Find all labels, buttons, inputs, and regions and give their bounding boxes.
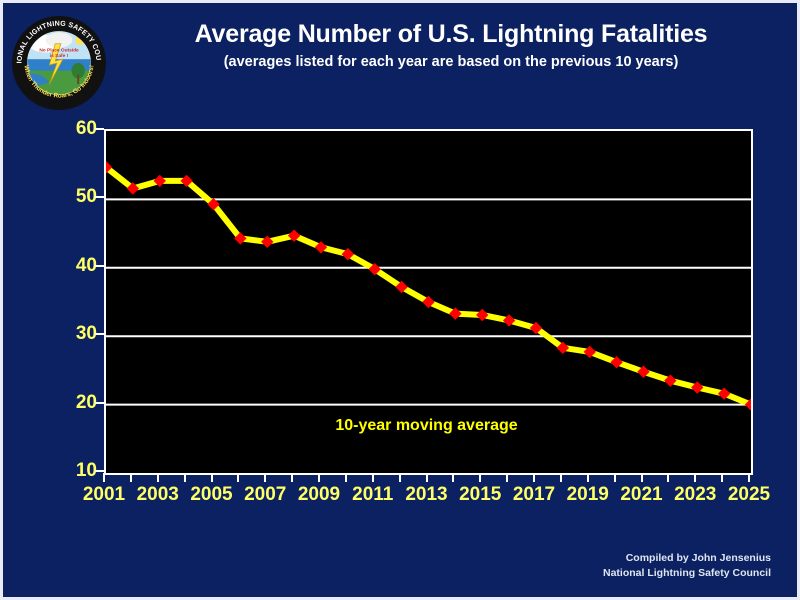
seal-icon: NATIONAL LIGHTNING SAFETY COUNCIL When T…: [11, 15, 107, 111]
y-axis-tick-label: 50: [51, 186, 97, 208]
x-axis-tick-label: 2001: [83, 484, 125, 506]
x-axis-tick-label: 2013: [405, 484, 447, 506]
x-axis-tick-label: 2019: [567, 484, 609, 506]
x-axis-tick-mark: [372, 473, 374, 482]
x-axis-tick-mark: [452, 473, 454, 482]
x-axis-tick-mark: [237, 473, 239, 482]
x-axis-tick-mark: [721, 473, 723, 482]
data-point-marker: [503, 314, 515, 326]
x-axis-tick-mark: [667, 473, 669, 482]
y-axis-tick-mark: [95, 265, 104, 267]
data-point-marker: [154, 175, 166, 187]
x-axis-tick-mark: [157, 473, 159, 482]
x-axis-ticks: [104, 473, 749, 482]
footer-credit: Compiled by John Jensenius National Ligh…: [603, 551, 771, 581]
y-axis-tick-mark: [95, 196, 104, 198]
x-axis-tick-label: 2017: [513, 484, 555, 506]
y-axis-tick-label: 60: [51, 118, 97, 140]
line-chart-svg: [106, 131, 751, 473]
data-point-marker: [691, 381, 703, 393]
x-axis-tick-mark: [426, 473, 428, 482]
y-axis-tick-mark: [95, 402, 104, 404]
page-subtitle: (averages listed for each year are based…: [113, 55, 789, 71]
x-axis-tick-mark: [184, 473, 186, 482]
slide-canvas: NATIONAL LIGHTNING SAFETY COUNCIL When T…: [0, 0, 800, 600]
x-axis-tick-label: 2011: [352, 484, 393, 506]
chart-plot-area: [104, 129, 753, 475]
data-point-marker: [261, 236, 273, 248]
x-axis-tick-label: 2025: [728, 484, 770, 506]
seal-inner-text-line2: is Safe !: [50, 53, 69, 59]
x-axis-tick-mark: [291, 473, 293, 482]
x-axis-tick-mark: [506, 473, 508, 482]
y-axis-tick-label: 20: [51, 392, 97, 414]
x-axis-tick-label: 2021: [620, 484, 662, 506]
y-axis-ticks: [95, 129, 104, 471]
page-title: Average Number of U.S. Lightning Fatalit…: [113, 21, 789, 49]
data-point-marker: [476, 309, 488, 321]
x-axis-tick-label: 2003: [137, 484, 179, 506]
y-axis-tick-label: 40: [51, 255, 97, 277]
x-axis-tick-mark: [614, 473, 616, 482]
x-axis-tick-mark: [318, 473, 320, 482]
x-axis-tick-mark: [560, 473, 562, 482]
title-block: Average Number of U.S. Lightning Fatalit…: [113, 21, 789, 70]
x-axis-tick-mark: [748, 473, 750, 482]
x-axis-tick-mark: [479, 473, 481, 482]
x-axis-tick-label: 2007: [244, 484, 286, 506]
x-axis-tick-mark: [264, 473, 266, 482]
x-axis-tick-label: 2015: [459, 484, 501, 506]
x-axis-tick-mark: [399, 473, 401, 482]
x-axis-tick-mark: [533, 473, 535, 482]
y-axis-tick-mark: [95, 128, 104, 130]
x-axis-tick-label: 2005: [190, 484, 232, 506]
x-axis-tick-mark: [641, 473, 643, 482]
x-axis-labels: 2001200320052007200920112013201520172019…: [104, 484, 749, 510]
x-axis-tick-mark: [694, 473, 696, 482]
x-axis-tick-mark: [130, 473, 132, 482]
x-axis-tick-label: 2009: [298, 484, 340, 506]
series-line-10-year-moving-average: [106, 167, 751, 404]
national-lightning-safety-council-logo: NATIONAL LIGHTNING SAFETY COUNCIL When T…: [11, 15, 107, 111]
x-axis-tick-mark: [587, 473, 589, 482]
footer-line-organization: National Lightning Safety Council: [603, 566, 771, 581]
seal-inner-text-line1: No Place Outside: [39, 47, 79, 53]
x-axis-tick-mark: [103, 473, 105, 482]
x-axis-tick-label: 2023: [674, 484, 716, 506]
x-axis-tick-mark: [211, 473, 213, 482]
footer-line-author: Compiled by John Jensenius: [603, 551, 771, 566]
x-axis-tick-mark: [345, 473, 347, 482]
y-axis-labels: 102030405060: [41, 129, 97, 471]
y-axis-tick-label: 30: [51, 323, 97, 345]
y-axis-tick-mark: [95, 470, 104, 472]
y-axis-tick-label: 10: [51, 460, 97, 482]
y-axis-tick-mark: [95, 333, 104, 335]
